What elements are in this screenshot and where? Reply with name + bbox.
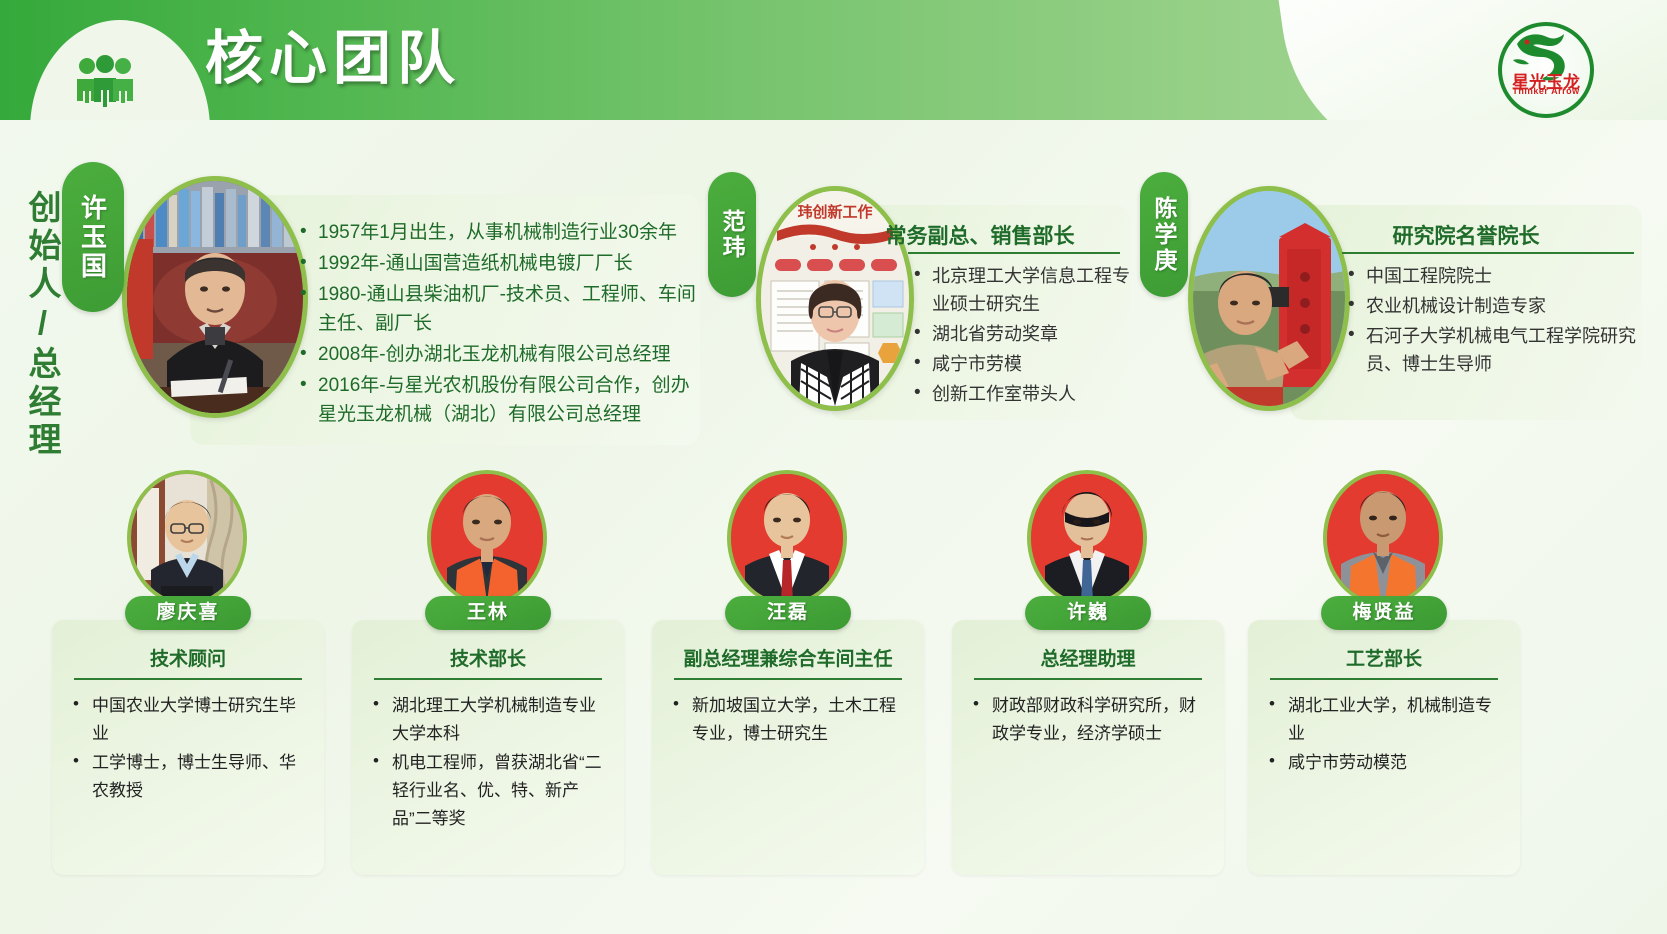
member-bullet-list: 新加坡国立大学，土木工程专业，博士研究生 bbox=[670, 692, 910, 749]
member-card-xu-wei: 许巍 总经理助理 财政部财政科学研究所，财政学专业，经济学硕士 bbox=[952, 620, 1224, 875]
member-name-badge: 汪磊 bbox=[725, 596, 851, 630]
member-role-title: 工艺部长 bbox=[1248, 644, 1520, 671]
founder-side-caption: 创始人/总经理 bbox=[18, 190, 64, 460]
member-bullet-list: 湖北工业大学，机械制造专业 咸宁市劳动模范 bbox=[1266, 692, 1506, 778]
leader-role-title: 研究院名誉院长 bbox=[1300, 220, 1632, 250]
member-bullet: 财政部财政科学研究所，财政学专业，经济学硕士 bbox=[970, 692, 1210, 748]
member-bullet-list: 中国农业大学博士研究生毕业 工学博士，博士生导师、华农教授 bbox=[70, 692, 310, 806]
leader-bullet-list: 北京理工大学信息工程专业硕士研究生 湖北省劳动奖章 咸宁市劳模 创新工作室带头人 bbox=[912, 262, 1134, 410]
member-bullet: 湖北理工大学机械制造专业大学本科 bbox=[370, 692, 610, 748]
page-header: 核心团队 星光玉龙 Thinker Arrow bbox=[0, 0, 1667, 120]
role-divider bbox=[74, 678, 302, 680]
role-divider bbox=[674, 678, 902, 680]
leader-bullet: 咸宁市劳模 bbox=[912, 350, 1134, 378]
page-title: 核心团队 bbox=[205, 16, 461, 102]
leader-name-badge: 许玉国 bbox=[62, 162, 124, 312]
portrait-image bbox=[731, 474, 843, 602]
logo-english-text: Thinker Arrow bbox=[1502, 86, 1590, 96]
member-role-title: 技术顾问 bbox=[52, 644, 324, 671]
member-portrait bbox=[1323, 470, 1443, 606]
member-role-title: 总经理助理 bbox=[952, 644, 1224, 671]
member-bullet-list: 湖北理工大学机械制造专业大学本科 机电工程师，曾获湖北省“二轻行业名、优、特、新… bbox=[370, 692, 610, 834]
member-name-badge: 梅贤益 bbox=[1321, 596, 1447, 630]
role-divider bbox=[908, 252, 1120, 254]
member-card-wang-lei: 汪磊 副总经理兼综合车间主任 新加坡国立大学，土木工程专业，博士研究生 bbox=[652, 620, 924, 875]
member-card-liao-qingxi: 廖庆喜 技术顾问 中国农业大学博士研究生毕业 工学博士，博士生导师、华农教授 bbox=[52, 620, 324, 875]
leader-role-title: 常务副总、销售部长 bbox=[840, 220, 1120, 250]
role-divider bbox=[1270, 678, 1498, 680]
leader-bullet: 创新工作室带头人 bbox=[912, 380, 1134, 408]
portrait-image bbox=[131, 474, 243, 602]
member-name-badge: 王林 bbox=[425, 596, 551, 630]
leader-portrait bbox=[122, 176, 308, 418]
people-group-icon bbox=[74, 55, 136, 107]
slide-canvas: 核心团队 星光玉龙 Thinker Arrow 创始人/总经理 许玉国 bbox=[0, 0, 1667, 934]
role-divider bbox=[974, 678, 1202, 680]
leader-name-badge: 范玮 bbox=[708, 172, 756, 297]
leader-bullet: 石河子大学机械电气工程学院研究员、博士生导师 bbox=[1346, 322, 1642, 378]
company-logo: 星光玉龙 Thinker Arrow bbox=[1498, 22, 1594, 118]
svg-text:玮创新工作: 玮创新工作 bbox=[797, 203, 872, 221]
role-divider bbox=[374, 678, 602, 680]
member-portrait bbox=[1027, 470, 1147, 606]
member-name-badge: 廖庆喜 bbox=[125, 596, 251, 630]
leader-bullet: 农业机械设计制造专家 bbox=[1346, 292, 1642, 320]
member-card-wang-lin: 王林 技术部长 湖北理工大学机械制造专业大学本科 机电工程师，曾获湖北省“二轻行… bbox=[352, 620, 624, 875]
member-bullet: 机电工程师，曾获湖北省“二轻行业名、优、特、新产品”二等奖 bbox=[370, 749, 610, 833]
member-portrait bbox=[127, 470, 247, 606]
leader-bullet: 1980-通山县柴油机厂-技术员、工程师、车间主任、副厂长 bbox=[298, 280, 698, 338]
member-bullet: 湖北工业大学，机械制造专业 bbox=[1266, 692, 1506, 748]
leader-bullet-list: 中国工程院院士 农业机械设计制造专家 石河子大学机械电气工程学院研究员、博士生导… bbox=[1346, 262, 1642, 380]
member-bullet-list: 财政部财政科学研究所，财政学专业，经济学硕士 bbox=[970, 692, 1210, 749]
portrait-image bbox=[1031, 474, 1143, 602]
member-bullet: 新加坡国立大学，土木工程专业，博士研究生 bbox=[670, 692, 910, 748]
member-portrait bbox=[727, 470, 847, 606]
leader-bullet-list: 1957年1月出生，从事机械制造行业30余年 1992年-通山国营造纸机械电镀厂… bbox=[298, 218, 698, 431]
header-swoosh-decoration bbox=[1273, 0, 1667, 120]
portrait-image bbox=[1327, 474, 1439, 602]
leader-bullet: 2008年-创办湖北玉龙机械有限公司总经理 bbox=[298, 340, 698, 369]
leader-bullet: 北京理工大学信息工程专业硕士研究生 bbox=[912, 262, 1134, 318]
member-role-title: 技术部长 bbox=[352, 644, 624, 671]
leader-bullet: 湖北省劳动奖章 bbox=[912, 320, 1134, 348]
leader-bullet: 中国工程院院士 bbox=[1346, 262, 1642, 290]
member-role-title: 副总经理兼综合车间主任 bbox=[652, 644, 924, 671]
leader-bullet: 1992年-通山国营造纸机械电镀厂厂长 bbox=[298, 249, 698, 278]
member-card-mei-xianyi: 梅贤益 工艺部长 湖北工业大学，机械制造专业 咸宁市劳动模范 bbox=[1248, 620, 1520, 875]
member-name-badge: 许巍 bbox=[1025, 596, 1151, 630]
member-portrait bbox=[427, 470, 547, 606]
leader-name-badge: 陈学庚 bbox=[1140, 172, 1188, 297]
member-bullet: 工学博士，博士生导师、华农教授 bbox=[70, 749, 310, 805]
leader-bullet: 2016年-与星光农机股份有限公司合作，创办星光玉龙机械（湖北）有限公司总经理 bbox=[298, 371, 698, 429]
portrait-image bbox=[431, 474, 543, 602]
member-bullet: 咸宁市劳动模范 bbox=[1266, 749, 1506, 777]
member-bullet: 中国农业大学博士研究生毕业 bbox=[70, 692, 310, 748]
leader-bullet: 1957年1月出生，从事机械制造行业30余年 bbox=[298, 218, 698, 247]
portrait-image bbox=[127, 181, 303, 413]
role-divider bbox=[1342, 252, 1634, 254]
